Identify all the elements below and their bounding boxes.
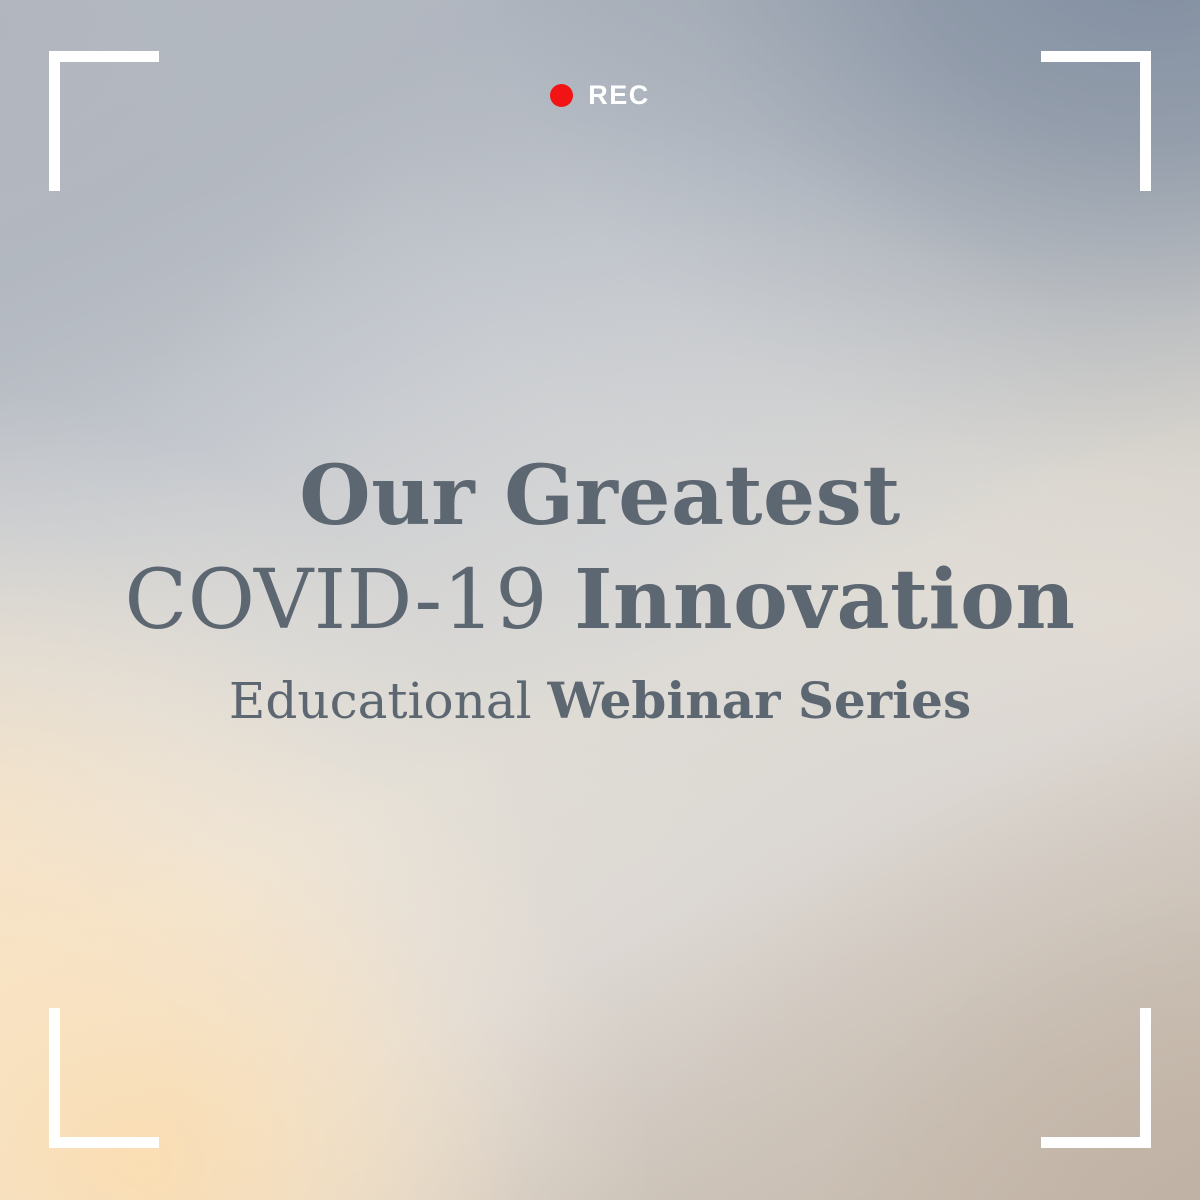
record-dot-icon bbox=[550, 84, 573, 107]
title-line-2: COVID-19 Innovation bbox=[0, 559, 1200, 642]
title-line-2-space bbox=[548, 553, 574, 648]
title-line-2-bold: Innovation bbox=[574, 552, 1075, 648]
recording-label: REC bbox=[588, 82, 650, 109]
webinar-title-card: REC Our Greatest COVID-19 Innovation Edu… bbox=[0, 0, 1200, 1200]
subtitle: Educational Webinar Series bbox=[0, 676, 1200, 726]
subtitle-bold: Webinar Series bbox=[548, 671, 972, 730]
title-line-1: Our Greatest bbox=[0, 455, 1200, 537]
subtitle-space bbox=[532, 672, 548, 730]
title-line-2-light: COVID-19 bbox=[125, 553, 548, 648]
title-block: Our Greatest COVID-19 Innovation Educati… bbox=[0, 455, 1200, 726]
recording-indicator: REC bbox=[0, 82, 1200, 109]
subtitle-light: Educational bbox=[229, 672, 532, 730]
